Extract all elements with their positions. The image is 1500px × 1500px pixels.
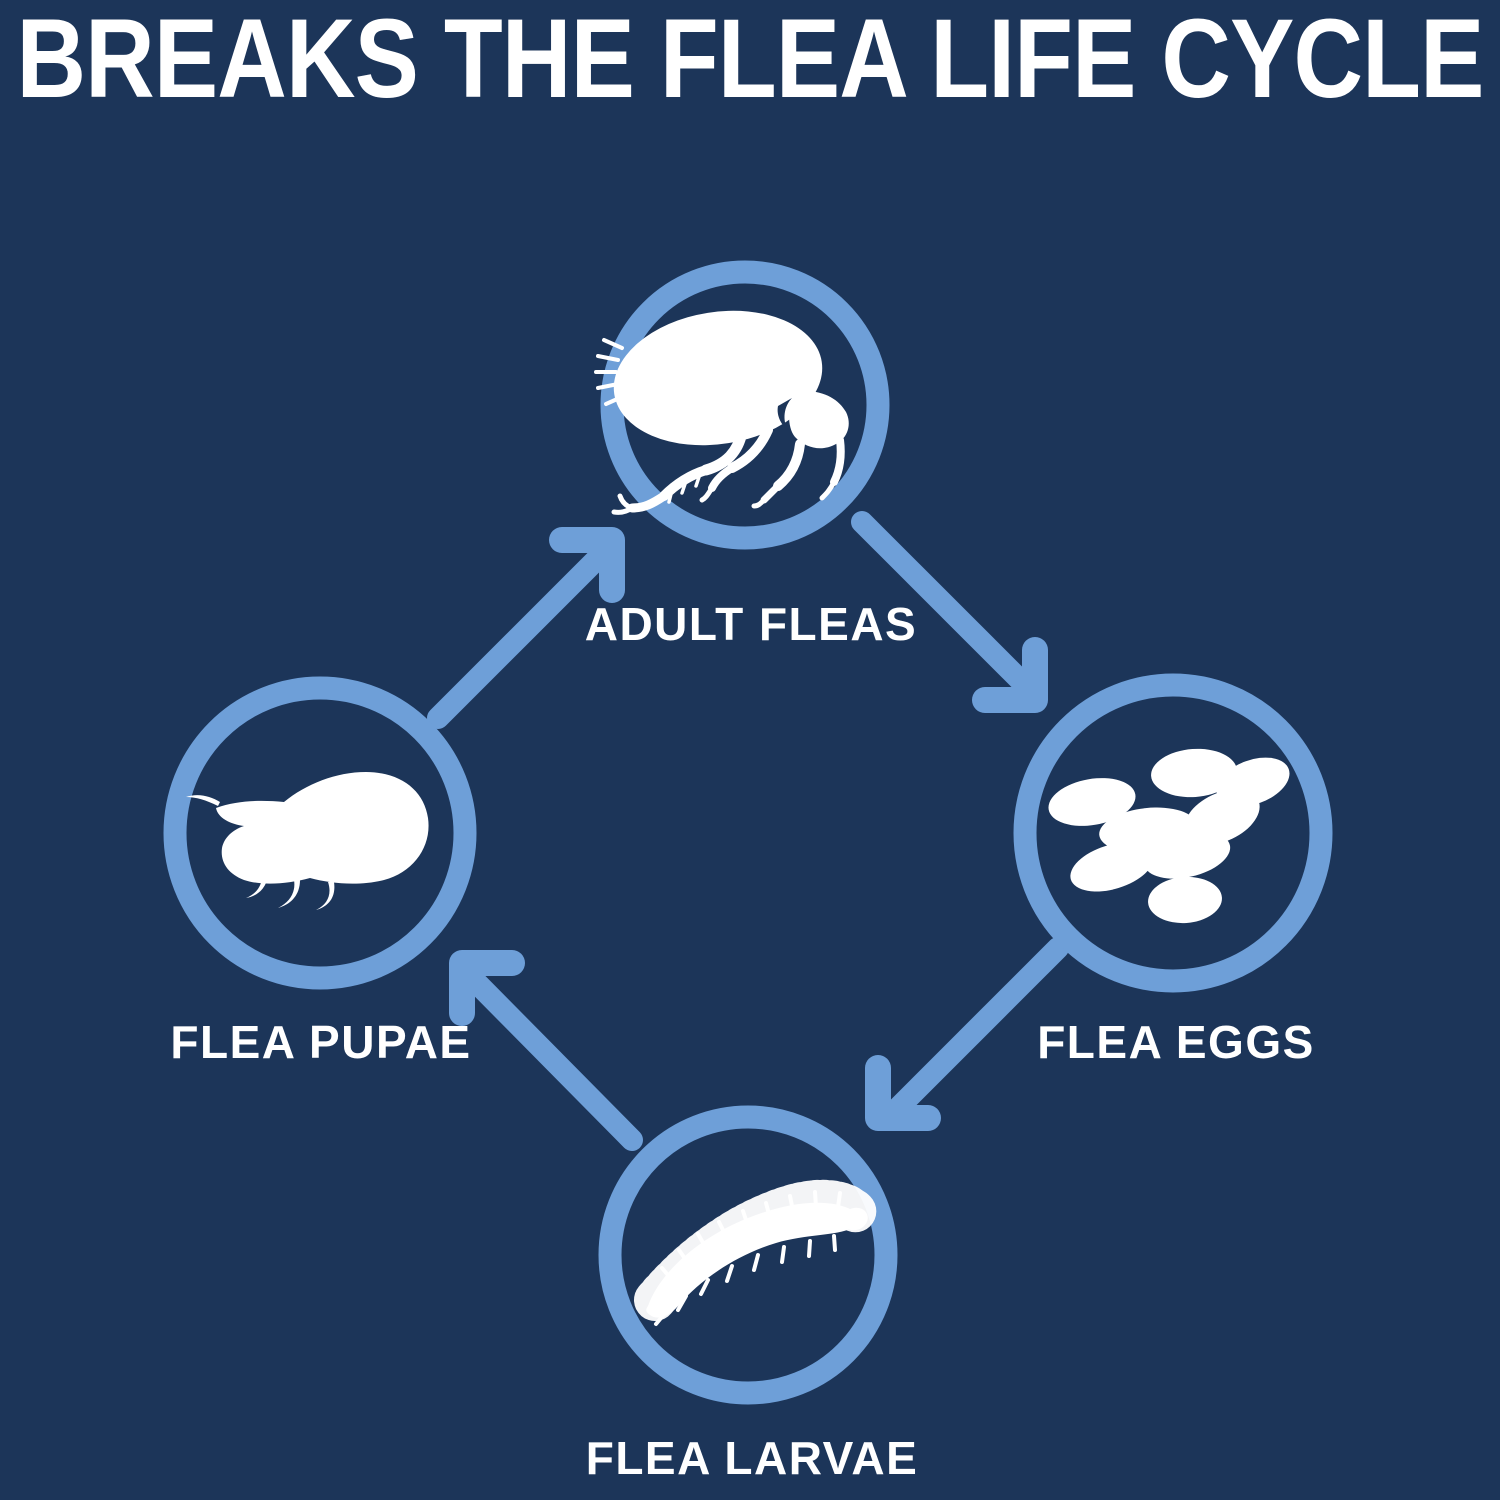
- cycle-node-adult-fleas[interactable]: [596, 272, 878, 538]
- arrow-eggs-to-larvae: [878, 948, 1058, 1120]
- flea-pupa-icon: [186, 772, 429, 910]
- cycle-node-flea-pupae[interactable]: [175, 688, 465, 978]
- cycle-node-flea-eggs[interactable]: [1025, 685, 1321, 981]
- flea-life-cycle-poster: BREAKS THE FLEA LIFE CYCLE: [0, 0, 1500, 1500]
- label-flea-larvae: FLEA LARVAE: [586, 1432, 919, 1484]
- arrow-larvae-to-pupae: [462, 963, 632, 1140]
- flea-life-cycle-diagram: ADULT FLEAS FLEA EGGS FLEA LARVAE FLEA P…: [0, 0, 1500, 1500]
- label-flea-eggs: FLEA EGGS: [1037, 1016, 1315, 1068]
- label-flea-pupae: FLEA PUPAE: [170, 1016, 471, 1068]
- flea-larva-icon: [646, 1192, 871, 1324]
- label-adult-fleas: ADULT FLEAS: [585, 598, 918, 650]
- flea-eggs-icon: [1045, 746, 1297, 925]
- cycle-node-flea-larvae[interactable]: [610, 1117, 886, 1393]
- flea-larvae-circle: [610, 1117, 886, 1393]
